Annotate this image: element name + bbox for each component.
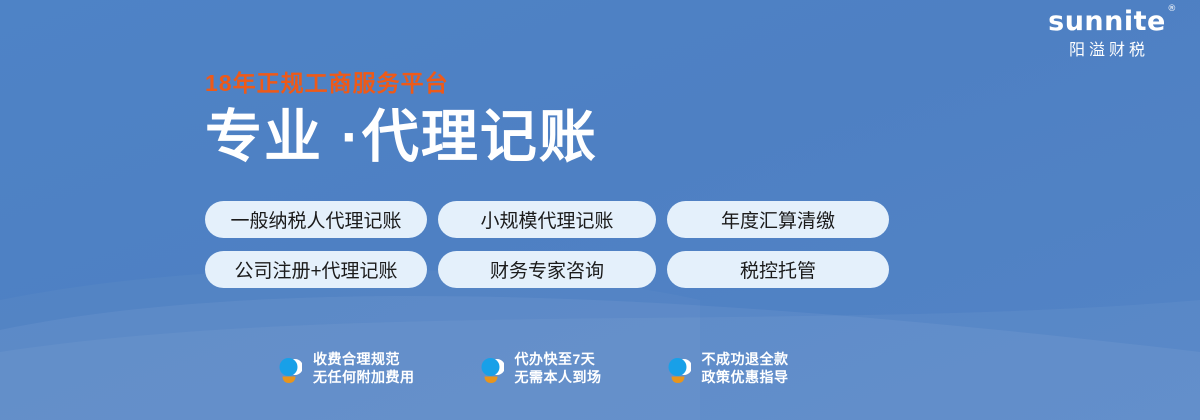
feature-line-1: 收费合理规范 (313, 351, 400, 367)
person-badge-icon (276, 353, 302, 383)
service-tag-grid: 一般纳税人代理记账 小规模代理记账 年度汇算清缴 公司注册+代理记账 财务专家咨… (205, 201, 889, 288)
feature-strip: 收费合理规范 无任何附加费用 代办快至7天 无需本人到场 (276, 350, 789, 386)
logo-chinese-name: 阳溢财税 (1032, 43, 1182, 59)
feature-line-2: 无任何附加费用 (313, 368, 415, 386)
feature-line-2: 无需本人到场 (515, 368, 602, 386)
brand-logo[interactable]: sunnite ® 阳溢财税 (1032, 8, 1182, 59)
hero-copy: 18年正规工商服务平台 专业 ·代理记账 (205, 72, 598, 166)
service-tag-general-taxpayer[interactable]: 一般纳税人代理记账 (205, 201, 427, 238)
feature-text: 代办快至7天 无需本人到场 (515, 350, 602, 386)
person-badge-icon (665, 353, 691, 383)
feature-line-2: 政策优惠指导 (702, 368, 789, 386)
service-tag-company-registration[interactable]: 公司注册+代理记账 (205, 251, 427, 288)
service-tag-small-scale[interactable]: 小规模代理记账 (438, 201, 656, 238)
person-badge-icon (478, 353, 504, 383)
feature-item-speed: 代办快至7天 无需本人到场 (478, 350, 602, 386)
feature-item-guarantee: 不成功退全款 政策优惠指导 (665, 350, 789, 386)
feature-item-pricing: 收费合理规范 无任何附加费用 (276, 350, 415, 386)
service-tag-finance-consulting[interactable]: 财务专家咨询 (438, 251, 656, 288)
logo-wordmark: sunnite ® (1048, 8, 1166, 35)
page-title: 专业 ·代理记账 (205, 109, 598, 166)
service-tag-tax-control-custody[interactable]: 税控托管 (667, 251, 889, 288)
service-tag-annual-settlement[interactable]: 年度汇算清缴 (667, 201, 889, 238)
banner-hero: sunnite ® 阳溢财税 18年正规工商服务平台 专业 ·代理记账 一般纳税… (0, 0, 1200, 420)
feature-text: 收费合理规范 无任何附加费用 (313, 350, 415, 386)
feature-line-1: 不成功退全款 (702, 351, 789, 367)
registered-trademark-icon: ® (1167, 5, 1177, 14)
hero-eyebrow: 18年正规工商服务平台 (205, 72, 598, 95)
logo-wordmark-text: sunnite (1048, 6, 1166, 37)
service-tag-row: 公司注册+代理记账 财务专家咨询 税控托管 (205, 251, 889, 288)
service-tag-row: 一般纳税人代理记账 小规模代理记账 年度汇算清缴 (205, 201, 889, 238)
feature-line-1: 代办快至7天 (515, 351, 596, 367)
feature-text: 不成功退全款 政策优惠指导 (702, 350, 789, 386)
